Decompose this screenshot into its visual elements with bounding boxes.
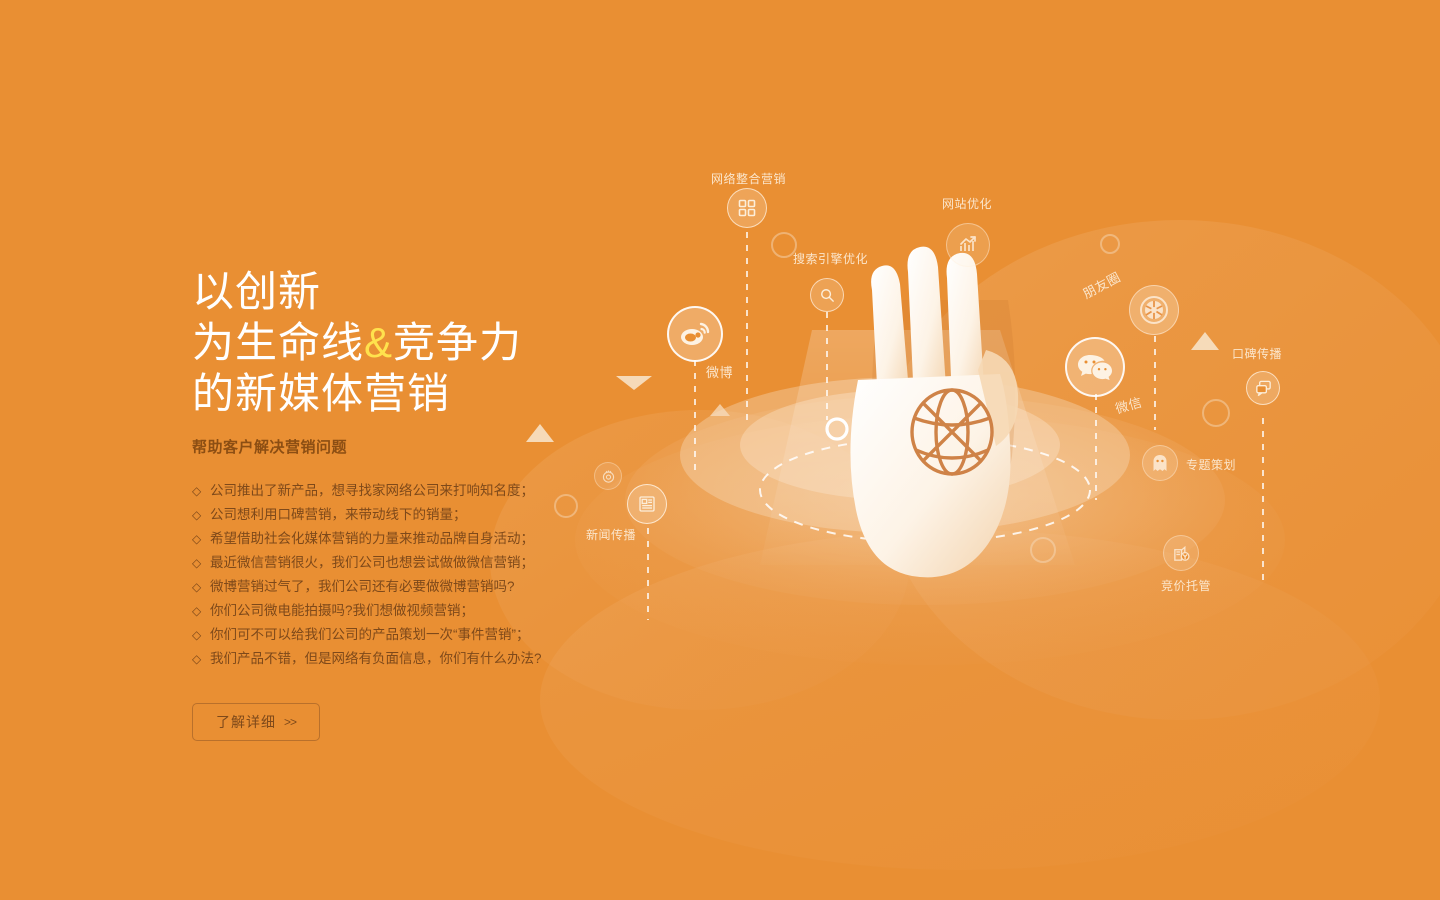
node-label: 竞价托管 bbox=[1161, 577, 1211, 594]
hero-copy: 以创新 为生命线&竞争力 的新媒体营销 帮助客户解决营销问题 ◇公司推出了新产品… bbox=[192, 266, 612, 741]
diamond-bullet-icon: ◇ bbox=[192, 623, 210, 647]
bar-chart-up-icon bbox=[946, 223, 990, 267]
page-title: 以创新 为生命线&竞争力 的新媒体营销 bbox=[192, 266, 612, 419]
news-document-icon bbox=[627, 484, 667, 524]
diamond-bullet-icon: ◇ bbox=[192, 479, 210, 503]
chevron-right-icon: >> bbox=[284, 715, 296, 729]
pain-point-list: ◇公司推出了新产品，想寻找家网络公司来打响知名度； ◇公司想利用口碑营销，来带动… bbox=[192, 479, 612, 671]
learn-more-button[interactable]: 了解详细 >> bbox=[192, 703, 320, 741]
list-item: ◇最近微信营销很火，我们公司也想尝试做做微信营销； bbox=[192, 551, 612, 575]
headline-line-1: 以创新 bbox=[192, 266, 612, 317]
list-item-label: 公司想利用口碑营销，来带动线下的销量； bbox=[210, 503, 467, 527]
bid-chart-coin-icon bbox=[1163, 535, 1199, 571]
headline-line-3: 的新媒体营销 bbox=[192, 368, 612, 419]
node-label: 专题策划 bbox=[1186, 456, 1236, 473]
grid-four-squares-icon bbox=[727, 188, 767, 228]
headline-ampersand: & bbox=[364, 319, 393, 366]
list-item: ◇你们可不可以给我们公司的产品策划一次“事件营销”； bbox=[192, 623, 612, 647]
list-item: ◇公司想利用口碑营销，来带动线下的销量； bbox=[192, 503, 612, 527]
diamond-bullet-icon: ◇ bbox=[192, 551, 210, 575]
node-label: 搜索引擎优化 bbox=[793, 250, 868, 267]
list-item: ◇微博营销过气了，我们公司还有必要做微博营销吗? bbox=[192, 575, 612, 599]
list-item-label: 你们公司微电能拍摄吗?我们想做视频营销； bbox=[210, 599, 474, 623]
headline-line-2b: 竞争力 bbox=[393, 319, 522, 366]
list-item-label: 我们产品不错，但是网络有负面信息，你们有什么办法? bbox=[210, 647, 542, 671]
camera-aperture-icon bbox=[1129, 285, 1179, 335]
node-label: 网络整合营销 bbox=[711, 170, 786, 187]
list-item-label: 你们可不可以给我们公司的产品策划一次“事件营销”； bbox=[210, 623, 530, 647]
diamond-bullet-icon: ◇ bbox=[192, 527, 210, 551]
node-label: 网站优化 bbox=[942, 195, 992, 212]
magnifier-icon bbox=[810, 278, 844, 312]
ghost-icon bbox=[1142, 445, 1178, 481]
chat-bubbles-icon bbox=[1246, 371, 1280, 405]
diamond-bullet-icon: ◇ bbox=[192, 647, 210, 671]
list-item: ◇公司推出了新产品，想寻找家网络公司来打响知名度； bbox=[192, 479, 612, 503]
diamond-bullet-icon: ◇ bbox=[192, 599, 210, 623]
list-item-label: 公司推出了新产品，想寻找家网络公司来打响知名度； bbox=[210, 479, 534, 503]
node-label: 口碑传播 bbox=[1232, 345, 1282, 362]
headline-line-2: 为生命线&竞争力 bbox=[192, 317, 612, 368]
list-item: ◇希望借助社会化媒体营销的力量来推动品牌自身活动； bbox=[192, 527, 612, 551]
list-item-label: 微博营销过气了，我们公司还有必要做微博营销吗? bbox=[210, 575, 515, 599]
diamond-bullet-icon: ◇ bbox=[192, 575, 210, 599]
headline-line-2a: 为生命线 bbox=[192, 319, 364, 366]
list-item: ◇我们产品不错，但是网络有负面信息，你们有什么办法? bbox=[192, 647, 612, 671]
list-item: ◇你们公司微电能拍摄吗?我们想做视频营销； bbox=[192, 599, 612, 623]
weibo-eye-icon bbox=[667, 306, 723, 362]
diamond-bullet-icon: ◇ bbox=[192, 503, 210, 527]
wechat-bubbles-icon bbox=[1065, 337, 1125, 397]
page-subtitle: 帮助客户解决营销问题 bbox=[192, 436, 612, 457]
hero-banner: 网络整合营销 搜索引擎优化 网站优化 bbox=[0, 0, 1440, 900]
learn-more-label: 了解详细 bbox=[216, 712, 276, 732]
node-label: 微博 bbox=[706, 362, 733, 381]
list-item-label: 希望借助社会化媒体营销的力量来推动品牌自身活动； bbox=[210, 527, 534, 551]
list-item-label: 最近微信营销很火，我们公司也想尝试做做微信营销； bbox=[210, 551, 534, 575]
